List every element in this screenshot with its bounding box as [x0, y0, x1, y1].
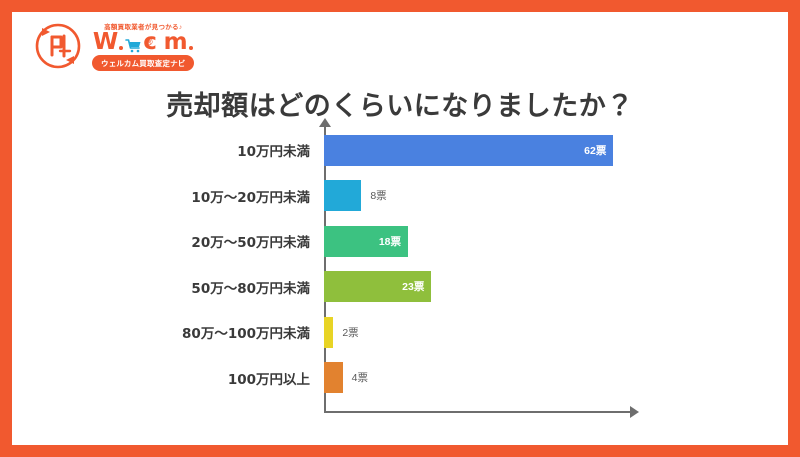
bar[interactable] — [324, 362, 343, 393]
category-label: 10万円未満 — [12, 140, 318, 160]
bar-value-label: 4票 — [343, 370, 368, 385]
bar-track: 18票 — [318, 219, 788, 263]
category-label: 20万〜50万円未満 — [12, 231, 318, 251]
bar-track: 62票 — [318, 128, 788, 172]
bar[interactable] — [324, 180, 361, 211]
bar-value-label: 2票 — [333, 325, 358, 340]
x-axis-arrow-icon — [630, 406, 639, 418]
bar-chart: 10万円未満62票10万〜20万円未満8票20万〜50万円未満18票50万〜80… — [12, 122, 788, 422]
category-label: 80万〜100万円未満 — [12, 322, 318, 342]
bar[interactable]: 62票 — [324, 135, 613, 166]
bar-row: 20万〜50万円未満18票 — [12, 219, 788, 263]
wordmark-dot-icon-2 — [189, 46, 193, 50]
category-label: 10万〜20万円未満 — [12, 186, 318, 206]
bar-row: 80万〜100万円未満2票 — [12, 310, 788, 354]
bar[interactable]: 18票 — [324, 226, 408, 257]
bar-row: 50万〜80万円未満23票 — [12, 265, 788, 309]
logo-wordmark: 高額買取業者が見つかる♪ W c ® m — [92, 21, 194, 71]
bar[interactable]: 23票 — [324, 271, 431, 302]
category-label: 50万〜80万円未満 — [12, 277, 318, 297]
shopping-cart-icon — [125, 38, 142, 53]
category-label: 100万円以上 — [12, 368, 318, 388]
x-axis-line — [324, 411, 632, 413]
bar-track: 4票 — [318, 356, 788, 400]
poster-frame: 高額買取業者が見つかる♪ W c ® m — [0, 0, 800, 457]
bar-row: 10万円未満62票 — [12, 128, 788, 172]
wordmark-dot-icon — [119, 46, 123, 50]
bar[interactable] — [324, 317, 333, 348]
bar-track: 23票 — [318, 265, 788, 309]
chart-canvas: 高額買取業者が見つかる♪ W c ® m — [12, 12, 788, 445]
bar-value-label: 62票 — [584, 143, 613, 158]
welcome-wordmark: W c ® m — [93, 32, 194, 54]
registered-mark-icon: ® — [146, 38, 153, 47]
page-title: 売却額はどのくらいになりましたか？ — [12, 84, 788, 123]
bar-track: 8票 — [318, 174, 788, 218]
wordmark-letter-m: m — [164, 31, 188, 54]
y-axis-arrow-icon — [319, 118, 331, 127]
logo-pill-label: ウェルカム買取査定ナビ — [92, 55, 194, 71]
bar-value-label: 18票 — [379, 234, 408, 249]
brand-logo[interactable]: 高額買取業者が見つかる♪ W c ® m — [30, 18, 194, 74]
bar-value-label: 8票 — [361, 188, 386, 203]
wordmark-letter-w: W — [93, 31, 118, 54]
bar-value-label: 23票 — [402, 279, 431, 294]
bar-row: 100万円以上4票 — [12, 356, 788, 400]
circular-arrows-logo-icon — [30, 18, 86, 74]
bar-row: 10万〜20万円未満8票 — [12, 174, 788, 218]
bar-track: 2票 — [318, 310, 788, 354]
